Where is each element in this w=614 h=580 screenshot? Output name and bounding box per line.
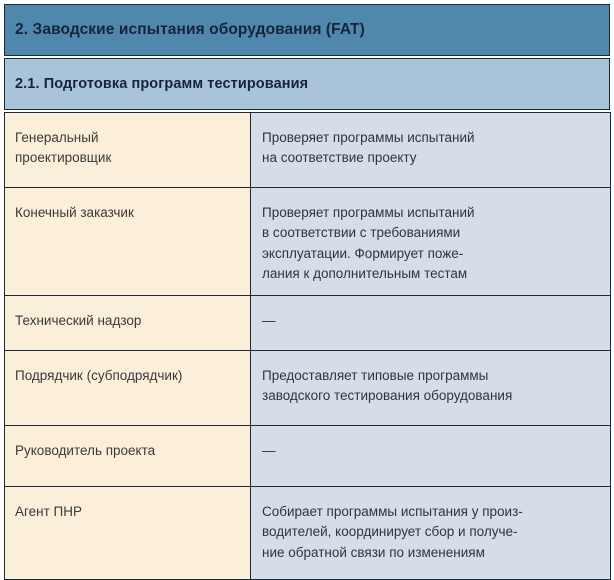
description-line: —	[262, 311, 602, 331]
role-cell: Технический надзор	[5, 296, 251, 351]
description-line: на соответствие проекту	[262, 148, 602, 168]
role-line: Агент ПНР	[15, 502, 242, 522]
role-line: Конечный заказчик	[15, 203, 242, 223]
description-cell: Предоставляет типовые программы заводско…	[251, 351, 611, 426]
description-line: Проверяет программы испытаний	[262, 203, 602, 223]
fat-responsibility-table-document: 2. Заводские испытания оборудования (FAT…	[0, 0, 614, 578]
description-cell: —	[251, 296, 611, 351]
description-line: заводского тестирования оборудования	[262, 386, 602, 406]
role-cell: Подрядчик (субподрядчик)	[5, 351, 251, 426]
description-cell: Проверяет программы испытаний на соответ…	[251, 113, 611, 188]
table-row: Конечный заказчик Проверяет программы ис…	[5, 188, 611, 296]
description-cell: Проверяет программы испытаний в соответс…	[251, 188, 611, 296]
subsection-header-test-program-preparation: 2.1. Подготовка программ тестирования	[4, 58, 610, 110]
responsibility-table: Генеральный проектировщик Проверяет прог…	[4, 112, 611, 580]
description-line: Предоставляет типовые программы	[262, 366, 602, 386]
role-cell: Руководитель проекта	[5, 426, 251, 487]
description-cell: —	[251, 426, 611, 487]
description-line: эксплуатации. Формирует поже-	[262, 244, 602, 264]
role-cell: Генеральный проектировщик	[5, 113, 251, 188]
role-line: проектировщик	[15, 148, 242, 168]
description-line: в соответствии с требованиями	[262, 223, 602, 243]
section-header-title: 2. Заводские испытания оборудования (FAT…	[5, 21, 365, 39]
role-cell: Конечный заказчик	[5, 188, 251, 296]
table-row: Руководитель проекта —	[5, 426, 611, 487]
description-cell: Собирает программы испытания у произ- во…	[251, 487, 611, 580]
description-line: —	[262, 441, 602, 461]
role-line: Подрядчик (субподрядчик)	[15, 366, 242, 386]
description-line: Проверяет программы испытаний	[262, 128, 602, 148]
description-line: ние обратной связи по изменениям	[262, 543, 602, 563]
role-line: Технический надзор	[15, 311, 242, 331]
role-line: Генеральный	[15, 128, 242, 148]
description-line: Собирает программы испытания у произ-	[262, 502, 602, 522]
table-row: Технический надзор —	[5, 296, 611, 351]
role-cell: Агент ПНР	[5, 487, 251, 580]
description-line: водителей, координирует сбор и получе-	[262, 522, 602, 542]
table-row: Генеральный проектировщик Проверяет прог…	[5, 113, 611, 188]
role-line: Руководитель проекта	[15, 441, 242, 461]
section-header-fat: 2. Заводские испытания оборудования (FAT…	[4, 4, 610, 56]
subsection-header-title: 2.1. Подготовка программ тестирования	[5, 76, 308, 92]
table-row: Подрядчик (субподрядчик) Предоставляет т…	[5, 351, 611, 426]
table-row: Агент ПНР Собирает программы испытания у…	[5, 487, 611, 580]
description-line: лания к дополнительным тестам	[262, 264, 602, 284]
